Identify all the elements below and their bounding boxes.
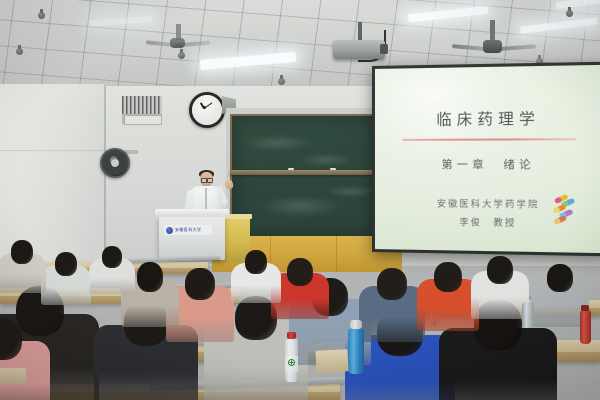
vent-label-plate xyxy=(124,115,162,125)
university-emblem-icon xyxy=(166,227,173,234)
water-bottle-logo xyxy=(288,359,295,366)
capsule-cluster-graphic xyxy=(546,194,582,225)
sprinkler-head xyxy=(38,12,45,19)
slide-title: 临床药理学 xyxy=(436,107,540,129)
chalk-smudges xyxy=(232,116,384,238)
chalk-piece xyxy=(330,168,336,170)
blue-thermos xyxy=(348,328,364,374)
clock-center-pin xyxy=(203,106,206,109)
student-head xyxy=(55,252,77,276)
wall-fan xyxy=(100,148,130,178)
wall-seam xyxy=(104,86,106,266)
slide-organization: 安徽医科大学药学院 xyxy=(437,196,540,210)
cardboard-box xyxy=(0,368,26,384)
vent-louvers xyxy=(122,96,162,114)
sprinkler-head xyxy=(278,78,285,85)
water-bottle-cap xyxy=(581,305,589,311)
blackboard xyxy=(230,114,386,240)
student-head xyxy=(11,240,33,264)
wall-clock xyxy=(189,92,225,128)
podium-name-plate: 安徽医科大学 xyxy=(164,225,212,235)
presentation-slide: 临床药理学 第一章 绪论 安徽医科大学药学院 李俊 教授 xyxy=(375,65,600,253)
projection-screen: 临床药理学 第一章 绪论 安徽医科大学药学院 李俊 教授 xyxy=(375,65,600,253)
water-bottle xyxy=(522,302,534,328)
slide-author: 李俊 教授 xyxy=(459,215,516,229)
lecturer-glasses xyxy=(207,178,213,183)
chalk-tray xyxy=(230,170,382,175)
lecture-hall-photo: 临床药理学 第一章 绪论 安徽医科大学药学院 李俊 教授 xyxy=(0,0,600,400)
cardboard-box xyxy=(315,349,348,373)
sprinkler-head xyxy=(178,52,185,59)
wainscot-seam xyxy=(336,236,337,272)
student-head xyxy=(377,268,407,300)
student-head xyxy=(102,246,122,268)
student-head xyxy=(434,262,462,292)
student-head xyxy=(137,262,163,292)
projector-lens xyxy=(380,44,388,54)
sprinkler-head xyxy=(16,48,23,55)
wall-seam xyxy=(0,150,104,151)
projector-body xyxy=(333,40,385,59)
lecturer-collar xyxy=(201,186,212,191)
water-bottle-cap xyxy=(287,332,296,339)
projection-screen-frame: 临床药理学 第一章 绪论 安徽医科大学药学院 李俊 教授 xyxy=(372,62,600,257)
student-head xyxy=(487,256,513,284)
chalk-piece xyxy=(288,168,294,170)
ceiling-fan-motor xyxy=(170,38,185,48)
podium-plate-text: 安徽医科大学 xyxy=(175,227,201,233)
student-head xyxy=(287,258,313,286)
slide-divider-rule xyxy=(402,138,577,141)
podium: 安徽医科大学 xyxy=(159,214,225,260)
student-head xyxy=(547,264,573,292)
slide-subtitle: 第一章 绪论 xyxy=(441,156,534,173)
student-head xyxy=(245,250,267,274)
ceiling-fan-motor xyxy=(483,40,502,53)
thermos-cap xyxy=(350,320,362,329)
ceiling-fan-rod xyxy=(490,20,495,42)
wall-fan-hub xyxy=(111,159,119,167)
wall-vent xyxy=(122,96,162,124)
water-bottle xyxy=(580,310,591,344)
student-head xyxy=(185,268,215,300)
podium-top-surface xyxy=(155,209,229,217)
clock-face xyxy=(192,95,222,125)
sprinkler-head xyxy=(566,10,573,17)
